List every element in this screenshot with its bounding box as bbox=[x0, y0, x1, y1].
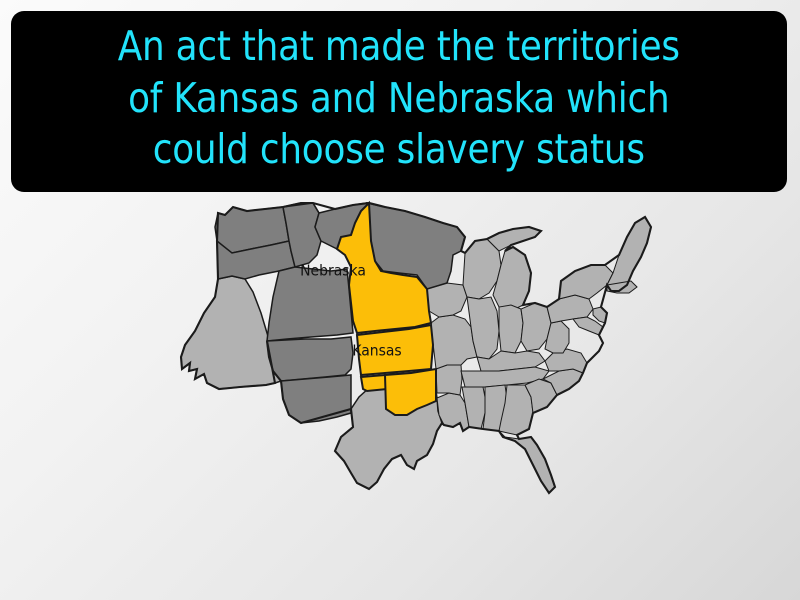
title-banner: An act that made the territories of Kans… bbox=[11, 11, 787, 192]
state-indiana bbox=[499, 305, 523, 353]
map-label-nebraska: Nebraska bbox=[300, 262, 366, 280]
map-label-kansas: Kansas bbox=[352, 342, 401, 360]
state-iowa bbox=[427, 283, 467, 317]
slide-canvas: An act that made the territories of Kans… bbox=[0, 0, 800, 600]
us-map: Nebraska Kansas bbox=[155, 193, 675, 528]
page-title: An act that made the territories of Kans… bbox=[118, 21, 680, 176]
state-nevada-utah bbox=[267, 337, 353, 381]
state-arkansas bbox=[436, 365, 462, 395]
us-map-svg: Nebraska Kansas bbox=[155, 193, 675, 528]
